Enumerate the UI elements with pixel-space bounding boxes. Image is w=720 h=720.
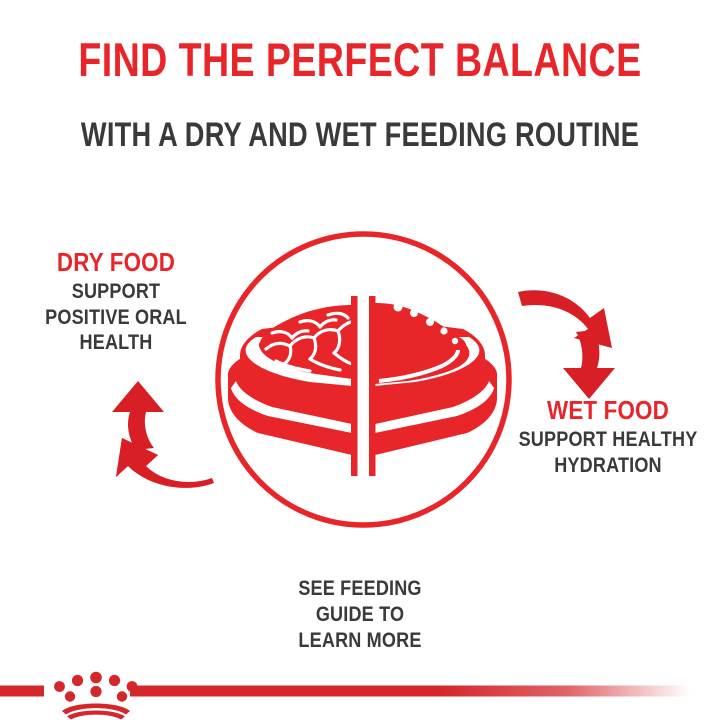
wet-food-mound (375, 303, 469, 384)
bowl-right-groove (375, 381, 494, 433)
divider-bar-left (351, 296, 358, 476)
callout-dry-line-1: SUPPORT (23, 279, 209, 305)
callout-dry-line-2: POSITIVE ORAL (23, 305, 209, 331)
callout-wet-food: WET FOOD SUPPORT HEALTHY HYDRATION (498, 396, 718, 478)
callout-wet-title: WET FOOD (513, 396, 702, 424)
wet-food-inner-edge (379, 350, 458, 381)
callout-dry-body: SUPPORT POSITIVE ORAL HEALTH (23, 279, 209, 356)
split-pet-food-bowl-icon (228, 296, 497, 476)
footer-bar-right (130, 686, 690, 697)
bowl-right-rim (375, 337, 479, 386)
page-subheadline: WITH A DRY AND WET FEEDING ROUTINE (72, 118, 648, 152)
callout-wet-line-1: SUPPORT HEALTHY (513, 427, 702, 453)
infographic-canvas: FIND THE PERFECT BALANCE WITH A DRY AND … (0, 0, 720, 720)
divider-gap (358, 296, 370, 476)
dry-food-mound (260, 305, 352, 379)
footer-bar (0, 666, 720, 720)
callout-dry-title: DRY FOOD (23, 248, 209, 276)
callout-wet-line-2: HYDRATION (513, 453, 702, 479)
callout-wet-body: SUPPORT HEALTHY HYDRATION (513, 427, 702, 478)
curved-arrow-up-left-icon (112, 381, 214, 488)
wet-food-contour (394, 303, 459, 345)
circle-outline (218, 234, 509, 525)
bowl-right-body (375, 348, 497, 455)
bowl-left-body (228, 348, 352, 455)
feeding-guide-line-2: GUIDE TO (50, 602, 669, 628)
feeding-guide-note: SEE FEEDING GUIDE TO LEARN MORE (0, 576, 720, 654)
callout-dry-food: DRY FOOD SUPPORT POSITIVE ORAL HEALTH (8, 248, 224, 356)
footer-bar-left-stub (0, 686, 44, 697)
bowl-right-cone (375, 318, 485, 422)
page-headline: FIND THE PERFECT BALANCE (72, 36, 648, 83)
feeding-guide-line-1: SEE FEEDING (50, 576, 669, 602)
divider-bar-right (369, 296, 376, 476)
bowl-left-rim (246, 337, 352, 386)
callout-dry-line-3: HEALTH (23, 330, 209, 356)
bowl-left-cone (240, 318, 352, 422)
kibble-outlines (266, 313, 352, 371)
feeding-guide-line-3: LEARN MORE (50, 628, 669, 654)
bowl-left-groove (231, 381, 352, 433)
royal-canin-paw-crown-logo (54, 672, 137, 720)
curved-arrow-down-right-icon (518, 290, 615, 399)
